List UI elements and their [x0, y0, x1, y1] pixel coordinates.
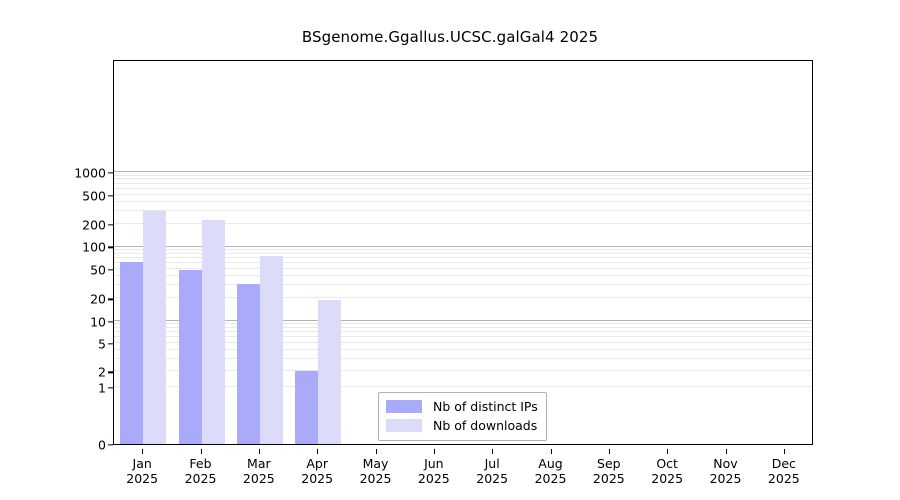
x-axis-label: Sep2025	[593, 456, 625, 486]
x-axis-label: Jun2025	[418, 456, 450, 486]
x-axis-label: Aug2025	[535, 456, 567, 486]
y-axis-label: 200	[82, 218, 106, 233]
y-axis-label: 1000	[74, 166, 106, 181]
bar-downloads	[202, 220, 225, 444]
x-axis-label-year: 2025	[360, 471, 392, 486]
x-axis-tick	[201, 449, 202, 454]
x-axis-label: Jan2025	[126, 456, 158, 486]
y-axis-label: 5	[98, 337, 106, 352]
y-axis-tick	[108, 299, 113, 300]
x-axis-label: May2025	[360, 456, 392, 486]
x-axis-label-month: Feb	[185, 456, 217, 471]
x-axis-label-year: 2025	[243, 471, 275, 486]
x-axis-tick	[551, 449, 552, 454]
y-axis-label: 20	[90, 292, 106, 307]
x-axis-tick	[259, 449, 260, 454]
legend-item-downloads: Nb of downloads	[386, 416, 538, 435]
bar-downloads	[318, 300, 341, 444]
legend-label-distinct-ips: Nb of distinct IPs	[433, 399, 538, 414]
x-axis-label-year: 2025	[418, 471, 450, 486]
x-axis-label: Oct2025	[651, 456, 683, 486]
x-axis-label-month: May	[360, 456, 392, 471]
x-axis-label: Dec2025	[768, 456, 800, 486]
y-axis-tick	[108, 387, 113, 388]
x-axis-label: Apr2025	[301, 456, 333, 486]
y-axis-label: 500	[82, 188, 106, 203]
x-axis-label-year: 2025	[126, 471, 158, 486]
y-axis-tick	[108, 343, 113, 344]
x-axis-label-year: 2025	[651, 471, 683, 486]
gridline-minor	[114, 178, 812, 179]
y-axis-label: 0	[98, 438, 106, 453]
y-axis-tick	[108, 321, 113, 322]
x-axis-label-month: Dec	[768, 456, 800, 471]
x-axis-label-month: Aug	[535, 456, 567, 471]
x-axis-label-month: Jun	[418, 456, 450, 471]
x-axis-tick	[726, 449, 727, 454]
y-axis-label: 1	[98, 381, 106, 396]
x-axis-label: Mar2025	[243, 456, 275, 486]
gridline-minor	[114, 183, 812, 184]
chart-legend: Nb of distinct IPs Nb of downloads	[378, 392, 547, 441]
gridline-minor	[114, 194, 812, 195]
x-axis-label-month: Nov	[710, 456, 742, 471]
chart-figure: BSgenome.Ggallus.UCSC.galGal4 2025 01251…	[0, 0, 900, 500]
x-axis-label-year: 2025	[593, 471, 625, 486]
y-axis-tick	[108, 372, 113, 373]
y-axis-label: 2	[98, 365, 106, 380]
y-axis-tick-marks	[108, 60, 114, 445]
legend-swatch-downloads	[386, 419, 422, 432]
y-axis-tick-labels: 01251020501002005001000	[48, 60, 106, 445]
y-axis-tick	[108, 173, 113, 174]
x-axis-tick	[317, 449, 318, 454]
y-axis-label: 10	[90, 314, 106, 329]
bar-distinct-ips	[295, 371, 318, 444]
x-axis-label-month: Jan	[126, 456, 158, 471]
x-axis-label: Feb2025	[185, 456, 217, 486]
legend-item-distinct-ips: Nb of distinct IPs	[386, 397, 538, 416]
y-axis-label: 50	[90, 262, 106, 277]
x-axis-tick	[142, 449, 143, 454]
x-axis-label-year: 2025	[301, 471, 333, 486]
x-axis-label-year: 2025	[185, 471, 217, 486]
y-axis-label: 100	[82, 240, 106, 255]
x-axis-label-month: Oct	[651, 456, 683, 471]
gridline-minor	[114, 210, 812, 211]
bar-downloads	[260, 256, 283, 444]
x-axis-label-month: Sep	[593, 456, 625, 471]
x-axis-label: Nov2025	[710, 456, 742, 486]
y-axis-tick	[108, 247, 113, 248]
x-axis-label-year: 2025	[710, 471, 742, 486]
bar-distinct-ips	[120, 262, 143, 444]
legend-swatch-distinct-ips	[386, 400, 422, 413]
y-axis-tick	[108, 195, 113, 196]
legend-label-downloads: Nb of downloads	[433, 418, 537, 433]
bar-distinct-ips	[179, 270, 202, 444]
gridline-minor	[114, 175, 812, 176]
gridline-minor	[114, 201, 812, 202]
y-axis-tick	[108, 269, 113, 270]
x-axis-label-year: 2025	[476, 471, 508, 486]
x-axis-tick	[667, 449, 668, 454]
bar-downloads	[143, 211, 166, 444]
bar-distinct-ips	[237, 284, 260, 444]
x-axis-label-year: 2025	[535, 471, 567, 486]
x-axis-label: Jul2025	[476, 456, 508, 486]
gridline-major	[114, 171, 812, 172]
plot-area	[113, 60, 813, 445]
x-axis-tick	[492, 449, 493, 454]
x-axis-label-month: Mar	[243, 456, 275, 471]
gridline-minor	[114, 188, 812, 189]
chart-title: BSgenome.Ggallus.UCSC.galGal4 2025	[0, 28, 900, 46]
x-axis-tick	[784, 449, 785, 454]
x-axis-tick	[609, 449, 610, 454]
x-axis-tick	[434, 449, 435, 454]
x-axis-tick-labels: Jan2025Feb2025Mar2025Apr2025May2025Jun20…	[113, 449, 813, 497]
x-axis-label-month: Apr	[301, 456, 333, 471]
y-axis-tick	[108, 444, 113, 445]
x-axis-label-month: Jul	[476, 456, 508, 471]
x-axis-label-year: 2025	[768, 471, 800, 486]
x-axis-tick	[376, 449, 377, 454]
y-axis-tick	[108, 225, 113, 226]
